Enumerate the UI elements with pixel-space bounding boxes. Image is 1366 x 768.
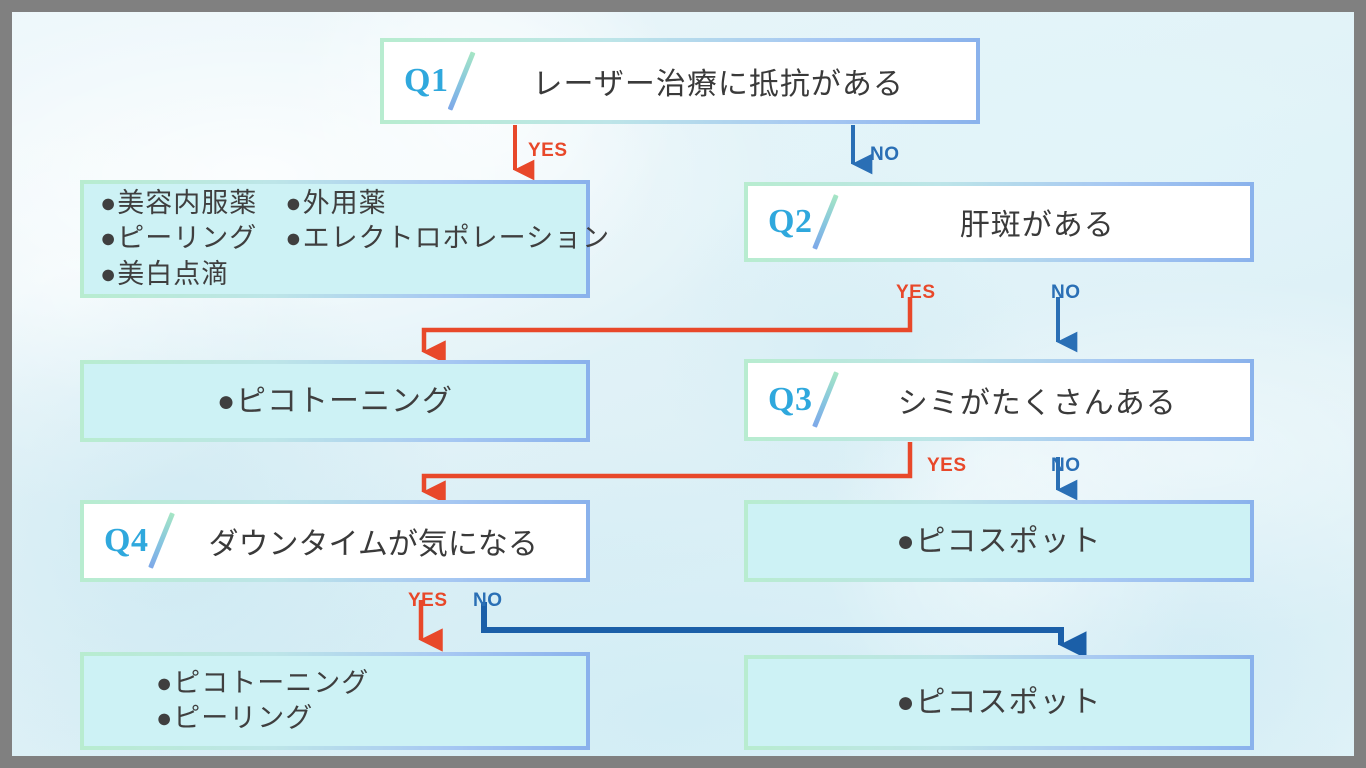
q2-question-text: 肝斑がある: [848, 200, 1250, 244]
edge-label-q2-no: NO: [1051, 282, 1081, 304]
q2-badge-label: Q2: [768, 205, 812, 239]
edge-q4-no-line: [484, 602, 1061, 645]
q4-question-text: ダウンタイムが気になる: [184, 519, 586, 563]
node-result-pico-spot-upper[interactable]: ●ピコスポット: [744, 500, 1254, 582]
edge-label-q3-yes: YES: [927, 455, 967, 477]
node-result-pico-toning[interactable]: ●ピコトーニング: [80, 360, 590, 442]
slash-divider-icon: [814, 186, 844, 258]
edge-q2-yes-line: [424, 297, 910, 352]
pico-spot-lower-label: ●ピコスポット: [748, 683, 1250, 722]
q1-badge-label: Q1: [404, 64, 448, 98]
slash-divider-icon: [450, 42, 480, 120]
node-result-conservative[interactable]: ●美容内服薬 ●外用薬 ●ピーリング ●エレクトロポレーション ●美白点滴: [80, 180, 590, 298]
node-result-toning-peeling[interactable]: ●ピコトーニング ●ピーリング: [80, 652, 590, 750]
q3-question-text: シミがたくさんある: [848, 378, 1250, 422]
edge-label-q3-no: NO: [1051, 455, 1081, 477]
list-item: ●ピコスポット: [748, 683, 1250, 722]
node-result-pico-spot-lower[interactable]: ●ピコスポット: [744, 655, 1254, 750]
edge-label-q4-no: NO: [473, 590, 503, 612]
q4-badge-label: Q4: [104, 524, 148, 558]
conservative-treatment-list: ●美容内服薬 ●外用薬 ●ピーリング ●エレクトロポレーション ●美白点滴: [84, 186, 586, 291]
node-q4[interactable]: Q4 ダウンタイムが気になる: [80, 500, 590, 582]
list-item: ●ピーリング: [156, 701, 586, 736]
slash-divider-icon: [814, 363, 844, 437]
list-item: ●美容内服薬 ●外用薬: [100, 186, 586, 221]
edge-label-q1-no: NO: [870, 144, 900, 166]
list-item: ●ピコトーニング: [84, 382, 586, 421]
node-q1[interactable]: Q1 レーザー治療に抵抗がある: [380, 38, 980, 124]
list-item: ●ピコトーニング: [156, 666, 586, 701]
list-item: ●美白点滴: [100, 257, 586, 292]
edge-label-q2-yes: YES: [896, 282, 936, 304]
slash-divider-icon: [150, 504, 180, 578]
list-item: ●ピコスポット: [748, 522, 1250, 561]
node-q3[interactable]: Q3 シミがたくさんある: [744, 359, 1254, 441]
pico-spot-upper-label: ●ピコスポット: [748, 522, 1250, 561]
toning-peeling-list: ●ピコトーニング ●ピーリング: [84, 666, 586, 736]
pico-toning-label: ●ピコトーニング: [84, 382, 586, 421]
list-item: ●ピーリング ●エレクトロポレーション: [100, 221, 586, 256]
edge-label-q4-yes: YES: [408, 590, 448, 612]
q3-badge-label: Q3: [768, 383, 812, 417]
edge-q3-yes-line: [424, 442, 910, 492]
q1-question-text: レーザー治療に抵抗がある: [484, 59, 976, 103]
edge-label-q1-yes: YES: [528, 140, 568, 162]
flowchart-canvas: YES NO YES NO YES NO YES NO Q1 レーザー治療に抵抗…: [12, 12, 1354, 756]
node-q2[interactable]: Q2 肝斑がある: [744, 182, 1254, 262]
